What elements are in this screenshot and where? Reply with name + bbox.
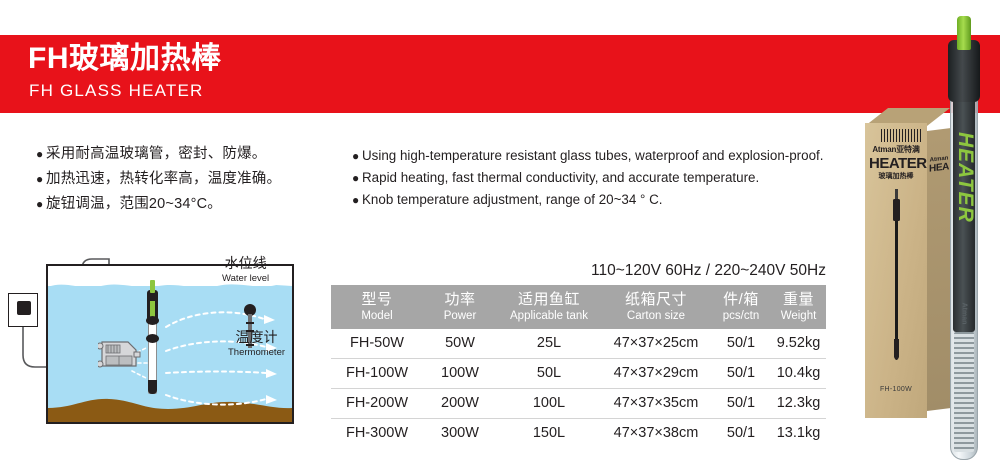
feature-text: Using high-temperature resistant glass t… (362, 145, 823, 167)
barcode-icon (881, 129, 921, 142)
cell-model: FH-200W (331, 389, 423, 419)
carton-brand: Atman亚特满 (869, 145, 923, 155)
heater-rod-in-tank (146, 276, 159, 394)
feature-item: ● Using high-temperature resistant glass… (352, 145, 852, 167)
feature-list-chinese: ● 采用耐高温玻璃管，密封、防爆。 ● 加热迅速，热转化率高，温度准确。 ● 旋… (36, 142, 346, 217)
heater-small-brand-text: Atman (961, 289, 968, 339)
cell-power: 300W (423, 419, 497, 449)
page-subtitle: FH GLASS HEATER (29, 80, 204, 101)
suction-cup-icon (146, 316, 159, 325)
feature-item: ● 采用耐高温玻璃管，密封、防爆。 (36, 142, 346, 167)
rod-tip (148, 380, 157, 394)
glass-heater-rod: HEATER Atman (947, 10, 981, 460)
feature-text: 采用耐高温玻璃管，密封、防爆。 (46, 142, 267, 167)
carton-heater-text: HEATER (869, 155, 923, 172)
column-header-en: Weight (771, 309, 826, 323)
cell-model: FH-50W (331, 329, 423, 359)
cell-pcs: 50/1 (711, 329, 771, 359)
table-row: FH-300W 300W 150L 47×37×38cm 50/1 13.1kg (331, 419, 826, 449)
page-title: FH玻璃加热棒 (28, 41, 222, 77)
feature-item: ● Rapid heating, fast thermal conductivi… (352, 167, 852, 189)
heater-brand-text: HEATER (953, 132, 977, 212)
thermometer-label-en: Thermometer (228, 346, 285, 359)
bullet-dot-icon: ● (36, 192, 46, 217)
thermometer-ring (246, 322, 254, 324)
cell-power: 200W (423, 389, 497, 419)
rod-temperature-knob-icon (150, 280, 155, 293)
column-header-cn: 型号 (331, 290, 423, 309)
voltage-spec: 110~120V 60Hz / 220~240V 50Hz (331, 262, 826, 280)
cell-carton: 47×37×29cm (601, 359, 711, 389)
carton-subtitle-cn: 玻璃加热棒 (869, 172, 923, 181)
column-header-cn: 功率 (423, 290, 497, 309)
column-header-model: 型号 Model (331, 285, 423, 329)
water-level-label: 水位线 Water level (222, 255, 269, 285)
feature-item: ● Knob temperature adjustment, range of … (352, 189, 852, 211)
cell-carton: 47×37×38cm (601, 419, 711, 449)
cell-pcs: 50/1 (711, 359, 771, 389)
specification-table: 型号 Model 功率 Power 适用鱼缸 Applicable tank 纸… (331, 285, 826, 448)
heating-coil (954, 332, 974, 452)
plug-icon (17, 301, 31, 315)
column-header-weight: 重量 Weight (771, 285, 826, 329)
cell-model: FH-100W (331, 359, 423, 389)
column-header-en: Power (423, 309, 497, 323)
table-header-row: 型号 Model 功率 Power 适用鱼缸 Applicable tank 纸… (331, 285, 826, 329)
power-outlet-icon (8, 293, 38, 327)
column-header-en: Applicable tank (497, 309, 601, 323)
feature-list-english: ● Using high-temperature resistant glass… (352, 145, 852, 211)
carton-product-illustration (892, 189, 901, 364)
substrate-gravel (48, 394, 292, 422)
feature-text: Rapid heating, fast thermal conductivity… (362, 167, 759, 189)
aquarium-diagram: 水位线 Water level 温度计 Thermometer (8, 255, 320, 450)
cell-weight: 10.4kg (771, 359, 826, 389)
feature-item: ● 加热迅速，热转化率高，温度准确。 (36, 167, 346, 192)
column-header-cn: 件/箱 (711, 290, 771, 309)
header-banner: FH玻璃加热棒 FH GLASS HEATER (0, 35, 1000, 113)
feature-item: ● 旋钮调温，范围20~34°C。 (36, 192, 346, 217)
column-header-en: Carton size (601, 309, 711, 323)
suction-cup-icon (146, 334, 159, 343)
cell-tank: 100L (497, 389, 601, 419)
column-header-cn: 重量 (771, 290, 826, 309)
feature-text: 旋钮调温，范围20~34°C。 (46, 192, 222, 217)
cell-power: 100W (423, 359, 497, 389)
carton-model-text: FH-100W (869, 385, 923, 394)
cell-weight: 13.1kg (771, 419, 826, 449)
cell-weight: 12.3kg (771, 389, 826, 419)
cell-model: FH-300W (331, 419, 423, 449)
cell-tank: 25L (497, 329, 601, 359)
table-row: FH-50W 50W 25L 47×37×25cm 50/1 9.52kg (331, 329, 826, 359)
column-header-applicable-tank: 适用鱼缸 Applicable tank (497, 285, 601, 329)
cell-tank: 150L (497, 419, 601, 449)
cell-weight: 9.52kg (771, 329, 826, 359)
water-level-label-cn: 水位线 (222, 255, 269, 272)
column-header-en: pcs/ctn (711, 309, 771, 323)
cell-carton: 47×37×35cm (601, 389, 711, 419)
column-header-power: 功率 Power (423, 285, 497, 329)
bullet-dot-icon: ● (352, 189, 362, 211)
table-row: FH-100W 100W 50L 47×37×29cm 50/1 10.4kg (331, 359, 826, 389)
bullet-dot-icon: ● (36, 167, 46, 192)
feature-text: Knob temperature adjustment, range of 20… (362, 189, 663, 211)
temperature-knob[interactable] (957, 16, 971, 50)
thermometer-label: 温度计 Thermometer (228, 329, 285, 359)
bullet-dot-icon: ● (352, 167, 362, 189)
cell-carton: 47×37×25cm (601, 329, 711, 359)
pump-filter-icon (98, 336, 142, 376)
carton-box-front: Atman亚特满 HEATER 玻璃加热棒 FH-100W (865, 123, 927, 418)
cell-power: 50W (423, 329, 497, 359)
product-photo: Atman HEA Atman亚特满 HEATER 玻璃加热棒 FH-100W … (855, 0, 1000, 468)
cell-pcs: 50/1 (711, 389, 771, 419)
column-header-carton-size: 纸箱尺寸 Carton size (601, 285, 711, 329)
column-header-en: Model (331, 309, 423, 323)
cell-tank: 50L (497, 359, 601, 389)
bullet-dot-icon: ● (352, 145, 362, 167)
water-level-label-en: Water level (222, 272, 269, 285)
column-header-cn: 纸箱尺寸 (601, 290, 711, 309)
thermometer-label-cn: 温度计 (228, 329, 285, 346)
feature-text: 加热迅速，热转化率高，温度准确。 (46, 167, 281, 192)
table-row: FH-200W 200W 100L 47×37×35cm 50/1 12.3kg (331, 389, 826, 419)
column-header-pcs-per-carton: 件/箱 pcs/ctn (711, 285, 771, 329)
cell-pcs: 50/1 (711, 419, 771, 449)
column-header-cn: 适用鱼缸 (497, 290, 601, 309)
bullet-dot-icon: ● (36, 142, 46, 167)
